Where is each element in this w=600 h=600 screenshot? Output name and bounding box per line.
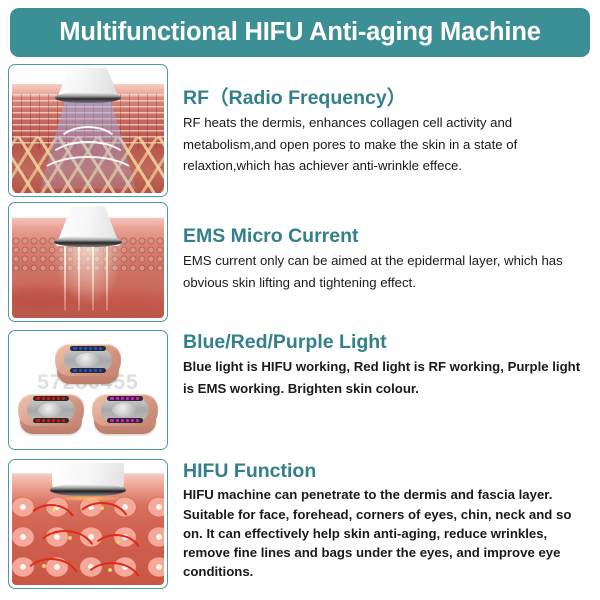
led-strip-purple xyxy=(107,396,143,401)
device-metal-ring xyxy=(55,92,121,103)
section-light: 57280455 xyxy=(0,330,600,450)
led-strip-blue xyxy=(70,346,106,351)
energy-arc xyxy=(26,504,76,524)
ems-current-glow xyxy=(51,240,125,307)
header-bar: Multifunctional HIFU Anti-aging Machine xyxy=(10,8,590,57)
led-strip-blue xyxy=(70,368,106,373)
section-ems: EMS Micro Current EMS current only can b… xyxy=(0,202,600,322)
device-red xyxy=(18,392,84,436)
ems-filament xyxy=(78,246,80,311)
device-center-disc xyxy=(112,403,138,417)
section-hifu-body: HIFU machine can penetrate to the dermis… xyxy=(183,485,583,581)
ems-filament xyxy=(64,246,66,311)
device-metal-ring xyxy=(50,484,126,496)
energy-arc xyxy=(34,530,96,554)
led-strip-purple xyxy=(107,418,143,423)
energy-spark xyxy=(52,508,56,512)
section-light-text: Blue/Red/Purple Light Blue light is HIFU… xyxy=(183,332,583,399)
device-center-disc xyxy=(75,353,101,367)
section-rf-title: RF（Radio Frequency） xyxy=(183,88,583,108)
device-purple xyxy=(92,392,158,436)
device-center-disc xyxy=(38,403,64,417)
energy-spark xyxy=(68,536,72,540)
section-light-image: 57280455 xyxy=(8,330,168,450)
section-ems-image xyxy=(8,202,168,322)
section-hifu: HIFU Function HIFU machine can penetrate… xyxy=(0,459,600,589)
energy-spark xyxy=(116,540,120,544)
section-rf: RF（Radio Frequency） RF heats the dermis,… xyxy=(0,64,600,197)
energy-spark xyxy=(100,506,104,510)
page-title: Multifunctional HIFU Anti-aging Machine xyxy=(59,20,540,46)
device-metal-ring xyxy=(54,236,122,247)
led-strip-red xyxy=(33,418,69,423)
ems-filament xyxy=(92,246,94,311)
section-ems-title: EMS Micro Current xyxy=(183,226,583,246)
energy-arc xyxy=(22,558,80,581)
hifu-contact-glow xyxy=(51,496,125,501)
section-rf-image xyxy=(8,64,168,197)
section-rf-body: RF heats the dermis, enhances collagen c… xyxy=(183,112,583,176)
led-strip-red xyxy=(33,396,69,401)
energy-spark xyxy=(108,568,112,572)
section-light-title: Blue/Red/Purple Light xyxy=(183,332,583,352)
device-blue xyxy=(55,342,121,386)
section-ems-body: EMS current only can be aimed at the epi… xyxy=(183,250,583,293)
section-hifu-text: HIFU Function HIFU machine can penetrate… xyxy=(183,461,583,581)
energy-spark xyxy=(42,564,46,568)
section-hifu-image xyxy=(8,459,168,589)
energy-arc-group xyxy=(12,496,164,585)
section-ems-text: EMS Micro Current EMS current only can b… xyxy=(183,226,583,293)
section-hifu-title: HIFU Function xyxy=(183,461,583,481)
section-rf-text: RF（Radio Frequency） RF heats the dermis,… xyxy=(183,88,583,177)
ems-filament xyxy=(106,246,108,311)
section-light-body: Blue light is HIFU working, Red light is… xyxy=(183,356,583,399)
energy-arc xyxy=(90,534,142,555)
energy-arc xyxy=(82,562,142,585)
rf-wave-arc xyxy=(37,156,139,194)
infographic-page: Multifunctional HIFU Anti-aging Machine … xyxy=(0,0,600,600)
